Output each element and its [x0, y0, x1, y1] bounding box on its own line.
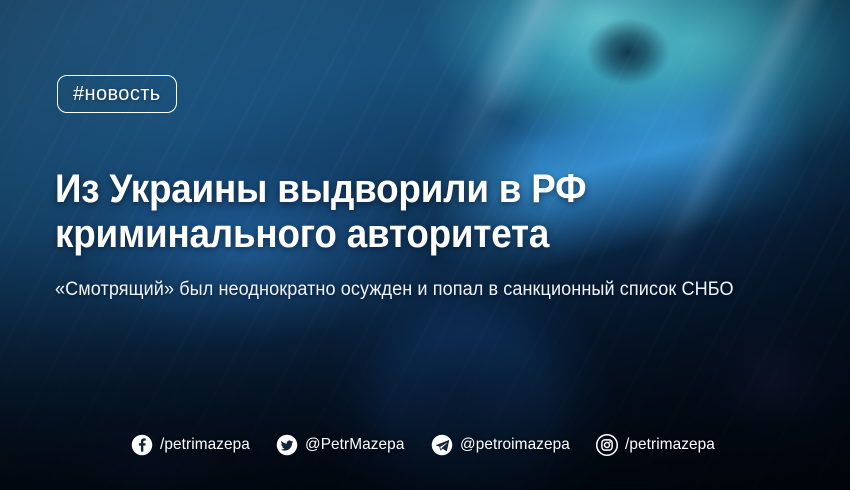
telegram-icon: [431, 434, 453, 456]
card-content: #новость Из Украины выдворили в РФ крими…: [0, 0, 850, 490]
social-link-instagram[interactable]: /petrimazepa: [596, 434, 719, 456]
social-links-bar: /petrimazepa @PetrMazepa @petroimazepa: [0, 434, 850, 456]
social-link-facebook[interactable]: /petrimazepa: [131, 434, 254, 456]
social-handle-twitter: @PetrMazepa: [305, 436, 404, 454]
social-link-twitter[interactable]: @PetrMazepa: [276, 434, 409, 456]
news-card: #новость Из Украины выдворили в РФ крими…: [0, 0, 850, 490]
social-handle-facebook: /petrimazepa: [160, 436, 250, 454]
page-title: Из Украины выдворили в РФ криминального …: [55, 167, 736, 257]
subtitle: «Смотрящий» был неоднократно осужден и п…: [55, 278, 777, 302]
facebook-icon: [131, 434, 153, 456]
social-handle-instagram: /petrimazepa: [625, 436, 715, 454]
social-handle-telegram: @petroimazepa: [460, 436, 570, 454]
instagram-icon: [596, 434, 618, 456]
social-link-telegram[interactable]: @petroimazepa: [431, 434, 575, 456]
twitter-icon: [276, 434, 298, 456]
category-badge[interactable]: #новость: [57, 75, 177, 113]
